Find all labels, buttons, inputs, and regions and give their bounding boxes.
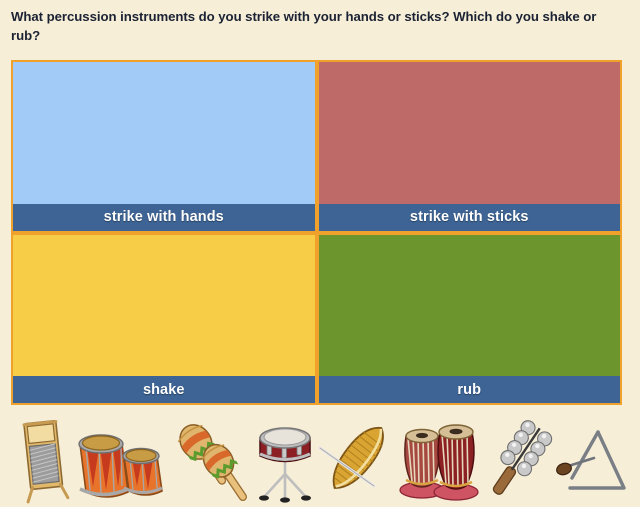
drop-zone-shake[interactable]: shake <box>13 235 315 404</box>
tray-item-snare-drum[interactable] <box>250 412 320 507</box>
tray-item-washboard[interactable] <box>12 412 76 507</box>
drop-zone-area-strike-with-sticks[interactable] <box>319 62 621 204</box>
drop-zone-area-rub[interactable] <box>319 235 621 377</box>
triangle-icon <box>556 412 632 507</box>
tabla-icon <box>396 412 482 507</box>
tray-item-bongos[interactable] <box>72 412 170 507</box>
sorting-grid: strike with hands strike with sticks sha… <box>11 60 622 405</box>
drop-zone-strike-with-hands[interactable]: strike with hands <box>13 62 315 231</box>
guiro-icon <box>318 412 398 507</box>
drop-zone-area-strike-with-hands[interactable] <box>13 62 315 204</box>
drop-zone-label-rub: rub <box>319 376 621 403</box>
tray-item-guiro[interactable] <box>318 412 398 507</box>
tray-item-maracas[interactable] <box>172 412 250 507</box>
maracas-icon <box>172 412 250 507</box>
bongos-icon <box>72 412 170 507</box>
drop-zone-label-strike-with-sticks: strike with sticks <box>319 204 621 231</box>
tray-item-tabla[interactable] <box>396 412 482 507</box>
activity-page: What percussion instruments do you strik… <box>0 0 640 507</box>
instrument-tray <box>0 412 640 507</box>
washboard-icon <box>12 412 76 507</box>
tray-item-jingle-stick[interactable] <box>480 412 558 507</box>
drop-zone-label-shake: shake <box>13 376 315 403</box>
drop-zone-strike-with-sticks[interactable]: strike with sticks <box>319 62 621 231</box>
drop-zone-rub[interactable]: rub <box>319 235 621 404</box>
tray-item-triangle[interactable] <box>556 412 632 507</box>
jingle-stick-icon <box>480 412 558 507</box>
drop-zone-label-strike-with-hands: strike with hands <box>13 204 315 231</box>
page-title: What percussion instruments do you strik… <box>11 7 625 45</box>
drop-zone-area-shake[interactable] <box>13 235 315 377</box>
snare-drum-icon <box>250 412 320 507</box>
